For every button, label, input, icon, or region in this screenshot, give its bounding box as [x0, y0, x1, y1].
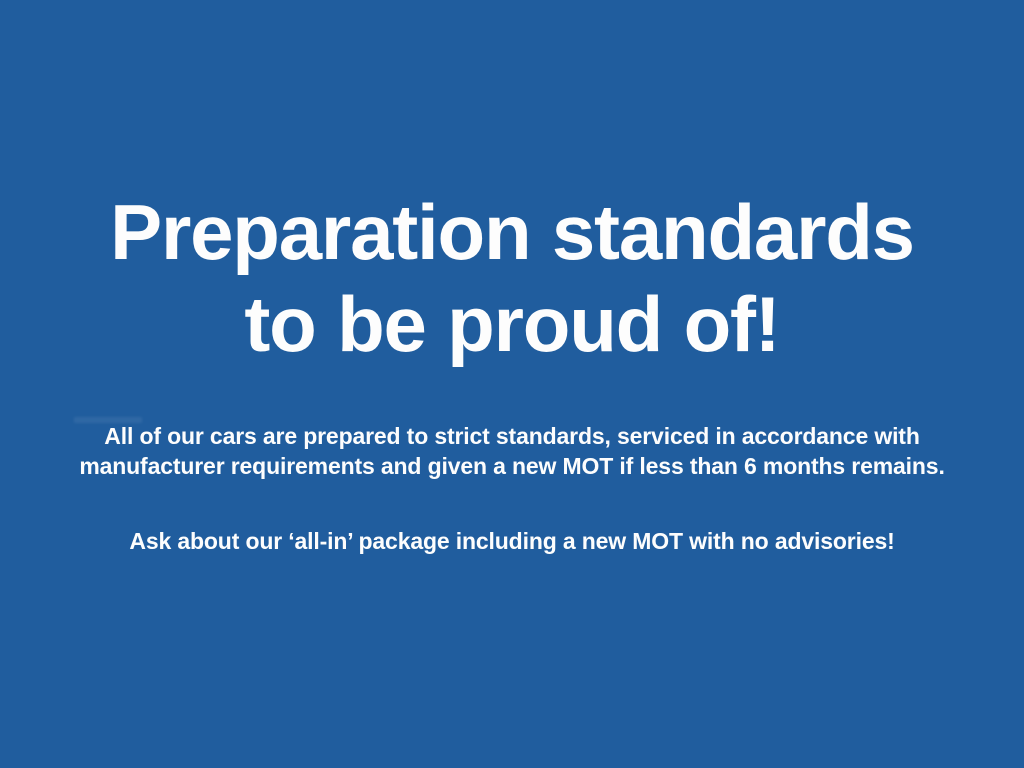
call-to-action-text: Ask about our ‘all-in’ package including…	[62, 526, 962, 556]
promotional-slide: Preparation standards to be proud of! Al…	[0, 0, 1024, 768]
headline-line-1: Preparation standards	[42, 186, 982, 278]
body-paragraph: All of our cars are prepared to strict s…	[62, 421, 962, 481]
headline-line-2: to be proud of!	[42, 278, 982, 370]
page-title: Preparation standards to be proud of!	[42, 186, 982, 370]
